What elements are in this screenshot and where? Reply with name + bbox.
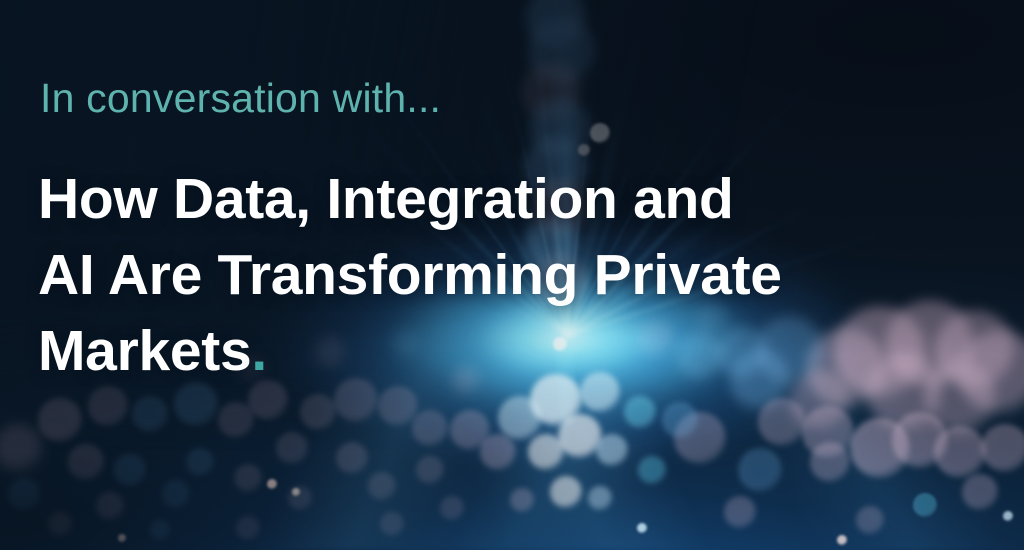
banner-content: In conversation with... How Data, Integr… — [0, 0, 1024, 550]
headline-line-1: How Data, Integration and — [38, 161, 1024, 237]
eyebrow-text: In conversation with... — [40, 78, 1024, 119]
page-title: How Data, Integration and AI Are Transfo… — [38, 161, 1024, 389]
headline-line-3-text: Markets — [38, 319, 251, 383]
banner-hero: In conversation with... How Data, Integr… — [0, 0, 1024, 550]
headline-line-3: Markets. — [38, 313, 1024, 389]
accent-period: . — [251, 319, 267, 383]
headline-line-2: AI Are Transforming Private — [38, 237, 1024, 313]
